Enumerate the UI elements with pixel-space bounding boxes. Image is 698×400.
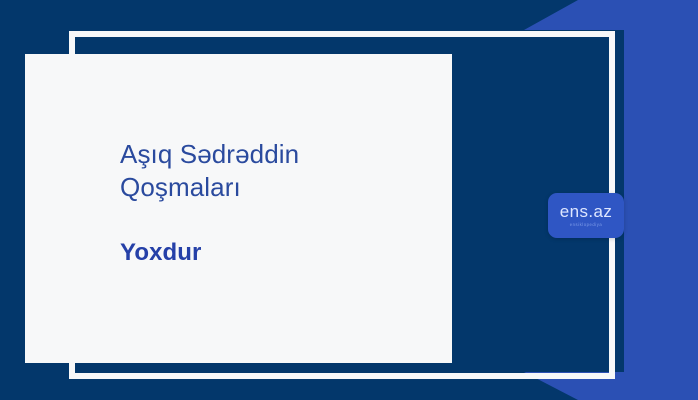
page-title: Aşıq Sədrəddin Qoşmaları xyxy=(120,138,434,205)
card-text-block: Aşıq Sədrəddin Qoşmaları Yoxdur xyxy=(120,138,434,267)
ens-az-logo-badge[interactable]: ens.az ensiklopediya xyxy=(548,193,624,238)
ens-az-tagline: ensiklopediya xyxy=(570,223,603,227)
page-subtitle: Yoxdur xyxy=(120,239,434,267)
content-card: Aşıq Sədrəddin Qoşmaları Yoxdur xyxy=(25,54,452,363)
ens-az-wordmark: ens.az xyxy=(560,203,613,220)
title-card-canvas: Aşıq Sədrəddin Qoşmaları Yoxdur ens.az e… xyxy=(0,0,698,400)
